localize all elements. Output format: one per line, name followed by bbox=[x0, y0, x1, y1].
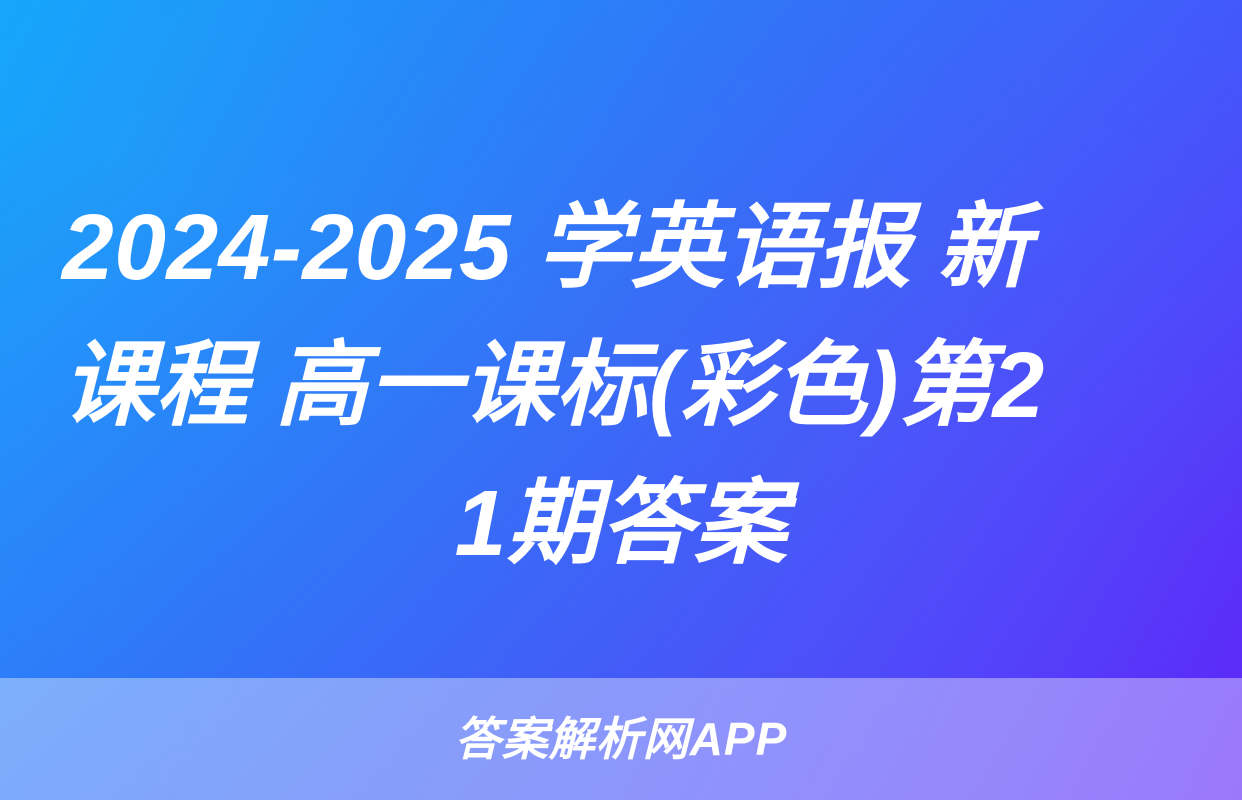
title-year-range: 2024-2025 bbox=[62, 178, 511, 316]
title-grade-edition: 高一课标(彩色)第2 bbox=[275, 316, 1045, 454]
title-publication: 学英语报 bbox=[537, 178, 911, 316]
app-brand-label: 答案解析网APP bbox=[455, 716, 788, 762]
page-title: 2024-2025学英语报新 课程高一课标(彩色)第2 1期答案 bbox=[62, 178, 1180, 592]
title-line-1: 2024-2025学英语报新 bbox=[62, 178, 1180, 316]
title-series-part-1: 新 bbox=[937, 178, 1031, 316]
footer-band: 答案解析网APP bbox=[0, 678, 1242, 800]
title-series-part-2: 课程 bbox=[62, 316, 249, 454]
title-line-3: 1期答案 bbox=[62, 454, 1180, 592]
title-line-2: 课程高一课标(彩色)第2 bbox=[62, 316, 1180, 454]
answer-banner: 2024-2025学英语报新 课程高一课标(彩色)第2 1期答案 答案解析网AP… bbox=[0, 0, 1242, 800]
title-issue-answer: 1期答案 bbox=[455, 454, 788, 592]
